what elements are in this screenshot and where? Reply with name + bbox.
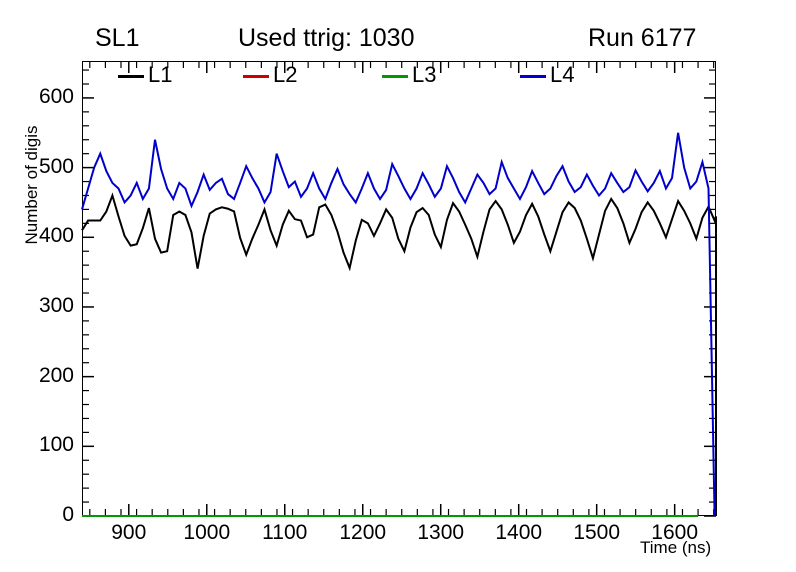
legend-swatch-l3-icon [382, 75, 408, 78]
y-tick-label: 400 [4, 224, 74, 248]
y-tick-label: 500 [4, 155, 74, 179]
legend-label: L4 [550, 62, 574, 88]
y-tick-label: 200 [4, 364, 74, 388]
legend-swatch-l1-icon [118, 75, 144, 78]
series-l1 [82, 195, 716, 516]
x-tick-label: 1200 [323, 521, 403, 545]
x-tick-label: 1300 [401, 521, 481, 545]
x-tick-label: 1600 [635, 521, 715, 545]
axis-ticks [82, 61, 716, 516]
plot-graphics [0, 0, 796, 572]
y-tick-label: 600 [4, 85, 74, 109]
legend-label: L1 [148, 62, 172, 88]
x-tick-label: 1000 [167, 521, 247, 545]
legend-swatch-l2-icon [243, 75, 269, 78]
y-tick-label: 100 [4, 433, 74, 457]
series-l4 [82, 133, 715, 516]
data-curves [82, 133, 716, 516]
y-tick-label: 0 [4, 503, 74, 527]
chart-canvas: SL1 Used ttrig: 1030 Run 6177 Number of … [0, 0, 796, 572]
y-tick-label: 300 [4, 294, 74, 318]
x-tick-label: 1100 [245, 521, 325, 545]
legend-label: L3 [412, 62, 436, 88]
x-tick-label: 1500 [557, 521, 637, 545]
legend-swatch-l4-icon [520, 75, 546, 78]
legend-label: L2 [273, 62, 297, 88]
x-tick-label: 1400 [479, 521, 559, 545]
x-tick-label: 900 [89, 521, 169, 545]
